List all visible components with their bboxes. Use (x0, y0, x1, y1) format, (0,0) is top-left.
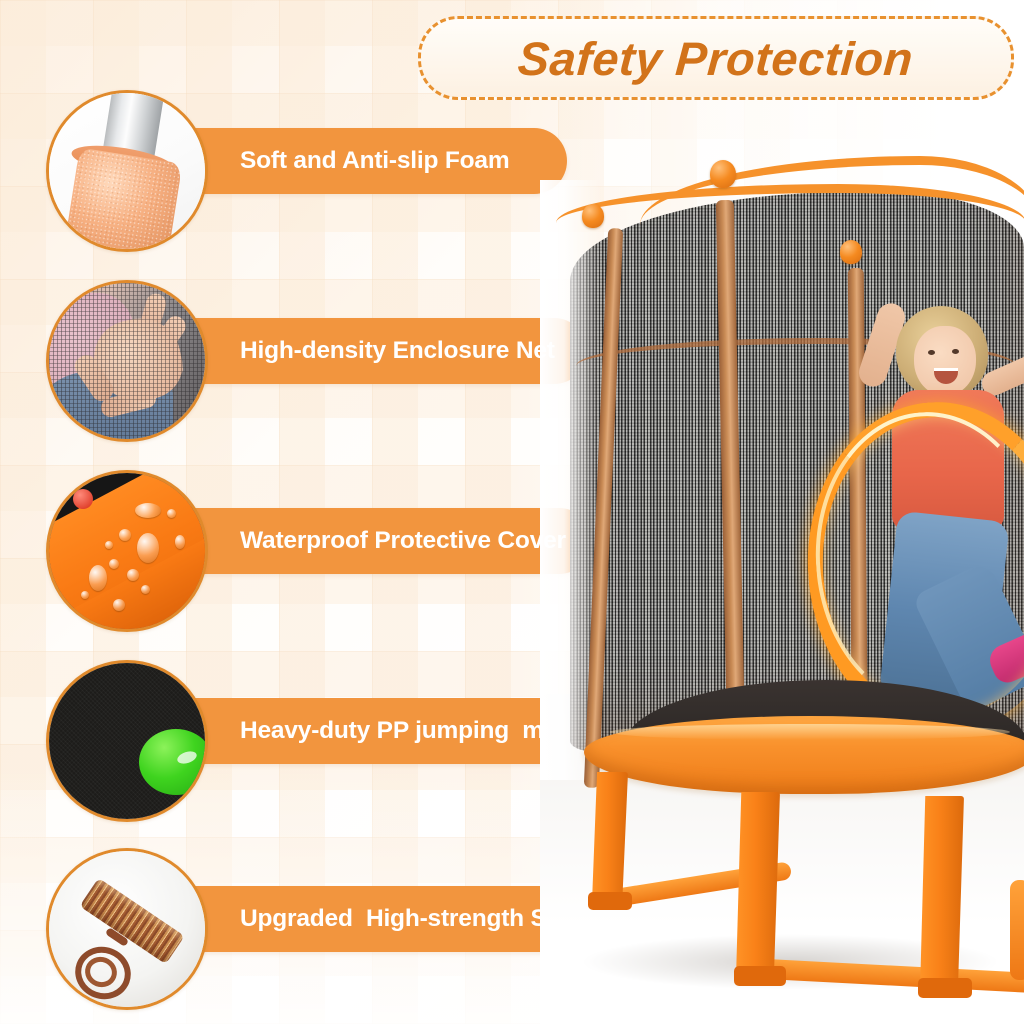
feature-thumbnail-5 (46, 848, 208, 1010)
feature-row-2: High-density Enclosure Net (28, 274, 608, 454)
hand-on-net-icon (49, 283, 205, 439)
frame-bar-right (1010, 880, 1024, 980)
trampoline-leg-left (592, 772, 628, 902)
trampoline-leg-middle (736, 792, 780, 978)
feature-thumbnail-1 (46, 90, 208, 252)
net-top-rim-2 (640, 156, 1024, 225)
feature-thumbnail-4 (46, 660, 208, 822)
child-face (914, 326, 976, 396)
infographic-page: Safety Protection Soft and Anti-slip Foa… (0, 0, 1024, 1024)
feature-row-4: Heavy-duty PP jumping mat (28, 654, 608, 834)
foam-sleeve-shape (64, 148, 183, 252)
feature-label-4: Heavy-duty PP jumping mat (240, 717, 565, 745)
feature-label-1: Soft and Anti-slip Foam (240, 147, 509, 175)
feature-row-5: Upgraded High-strength Springs (28, 842, 608, 1022)
waterproof-fabric-icon (49, 473, 205, 629)
page-title: Safety Protection (517, 31, 916, 86)
product-photo (540, 120, 1024, 1024)
feature-row-3: Waterproof Protective Cover (28, 464, 608, 644)
feature-row-1: Soft and Anti-slip Foam (28, 84, 608, 264)
pole-cap-left (582, 204, 604, 228)
feature-thumbnail-2 (46, 280, 208, 442)
trampoline-leg-right (920, 796, 964, 992)
feature-thumbnail-3 (46, 470, 208, 632)
green-ball-on-mat-icon (49, 663, 205, 819)
green-ball-shape (139, 729, 208, 795)
pole-cap-right (840, 240, 862, 264)
feature-label-2: High-density Enclosure Net (240, 337, 555, 365)
foam-sleeve-on-pole-icon (49, 93, 205, 249)
feature-label-3: Waterproof Protective Cover (240, 527, 566, 555)
red-bead-shape (73, 489, 93, 509)
steel-spring-icon (49, 851, 205, 1007)
pole-cap-middle (710, 160, 736, 188)
mesh-net-texture (49, 283, 205, 439)
